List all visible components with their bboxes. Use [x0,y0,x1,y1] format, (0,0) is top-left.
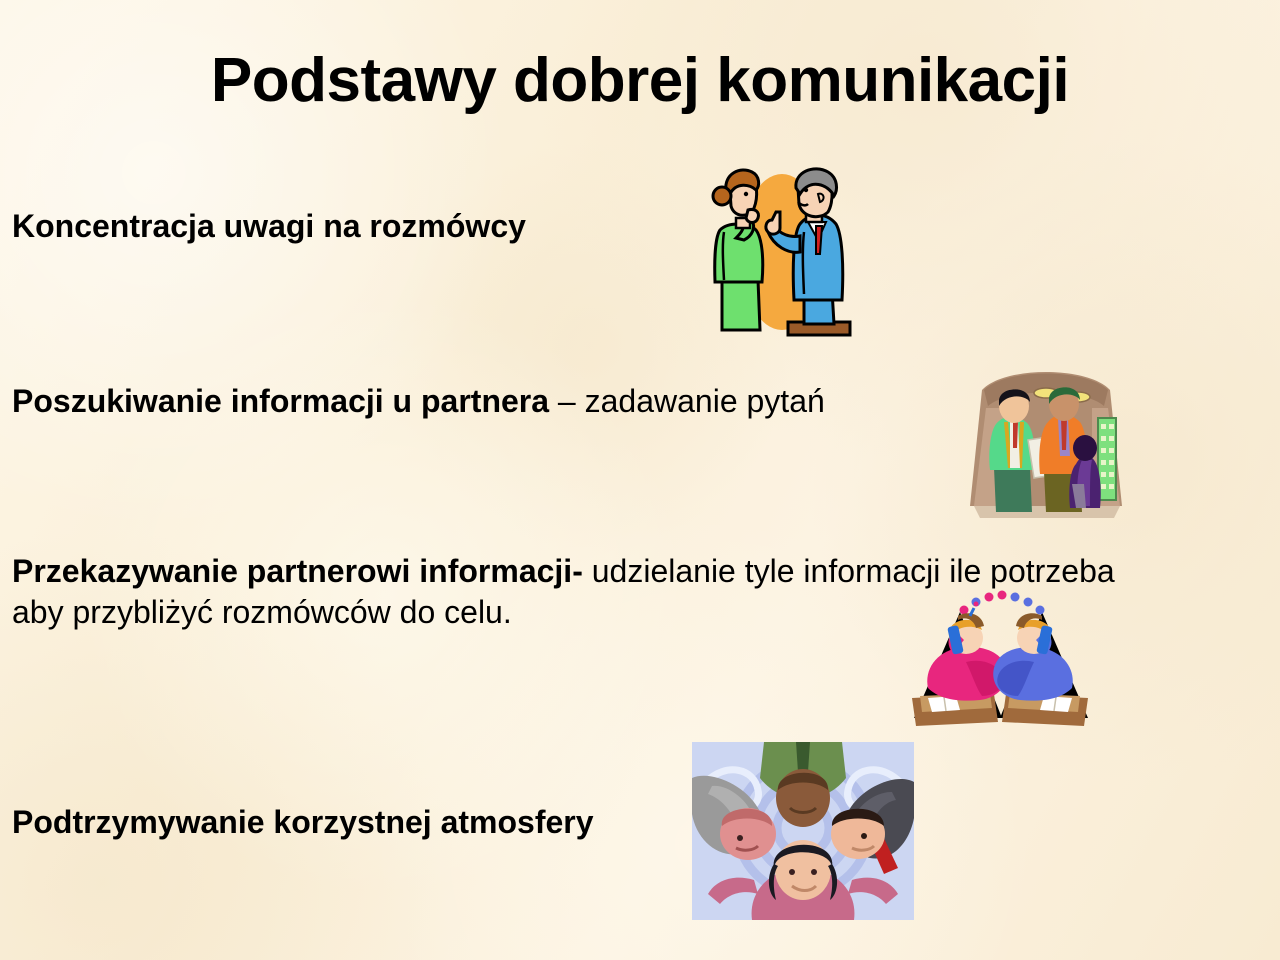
bullet-atmosphere-bold: Podtrzymywanie korzystnej atmosfery [12,804,594,840]
bullet-seek-info-bold: Poszukiwanie informacji u partnera [12,383,549,419]
bullet-seek-info: Poszukiwanie informacji u partnera – zad… [12,381,825,422]
bullet-seek-info-regular: – zadawanie pytań [549,383,825,419]
two-people-on-phone-clipart [906,586,1096,731]
bullet-focus: Koncentracja uwagi na rozmówcy [12,206,526,247]
slide-canvas: Podstawy dobrej komunikacji Koncentracja… [0,0,1280,960]
bullet-atmosphere: Podtrzymywanie korzystnej atmosfery [12,802,594,843]
bullet-focus-bold: Koncentracja uwagi na rozmówcy [12,208,526,244]
page-title: Podstawy dobrej komunikacji [0,48,1280,113]
bullet-give-info-bold: Przekazywanie partnerowi informacji- [12,553,583,589]
team-huddle-from-above-clipart [692,742,914,920]
three-people-in-elevator-clipart [952,356,1140,536]
two-people-talking-clipart [692,162,868,340]
